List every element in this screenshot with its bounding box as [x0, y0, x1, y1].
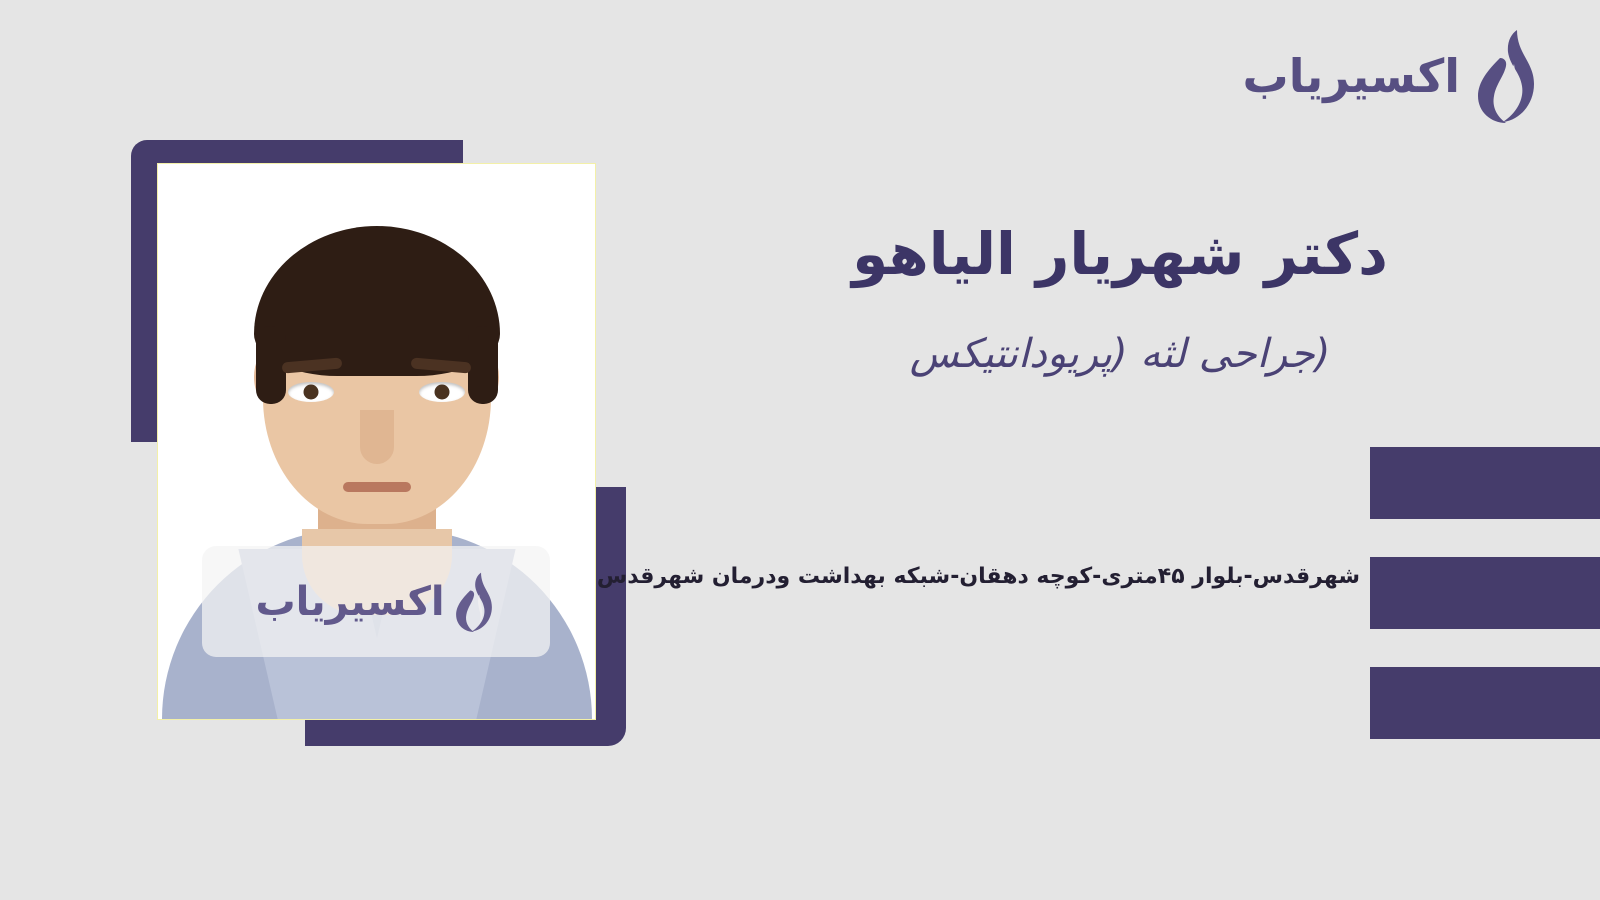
doctor-address: شهرقدس-بلوار ۴۵متری-کوچه دهقان-شبکه بهدا…: [597, 563, 1360, 592]
flame-drop-icon: [1470, 28, 1542, 124]
portrait-hair: [254, 226, 500, 376]
portrait-eye-left: [288, 382, 334, 402]
watermark-flame-drop-icon: [451, 571, 497, 633]
decorative-bar-1: [1370, 447, 1600, 519]
photo-watermark: اکسیریاب: [202, 546, 550, 657]
doctor-photo: اکسیریاب: [158, 164, 595, 719]
decorative-bar-2: [1370, 557, 1600, 629]
decorative-bar-3: [1370, 667, 1600, 739]
portrait-nose: [360, 410, 394, 464]
photo-block: اکسیریاب: [120, 130, 640, 755]
watermark-wordmark: اکسیریاب: [255, 582, 444, 622]
brand-logo[interactable]: اکسیریاب: [1243, 28, 1543, 124]
portrait-eye-right: [419, 382, 465, 402]
doctor-specialty: (جراحی لثه (پریودانتیکس: [740, 330, 1500, 378]
doctor-name: دکتر شهریار الیاهو: [740, 222, 1500, 287]
profile-card: اکسیریاب: [0, 0, 1600, 900]
portrait-mouth: [343, 482, 411, 492]
brand-wordmark: اکسیریاب: [1243, 53, 1461, 99]
